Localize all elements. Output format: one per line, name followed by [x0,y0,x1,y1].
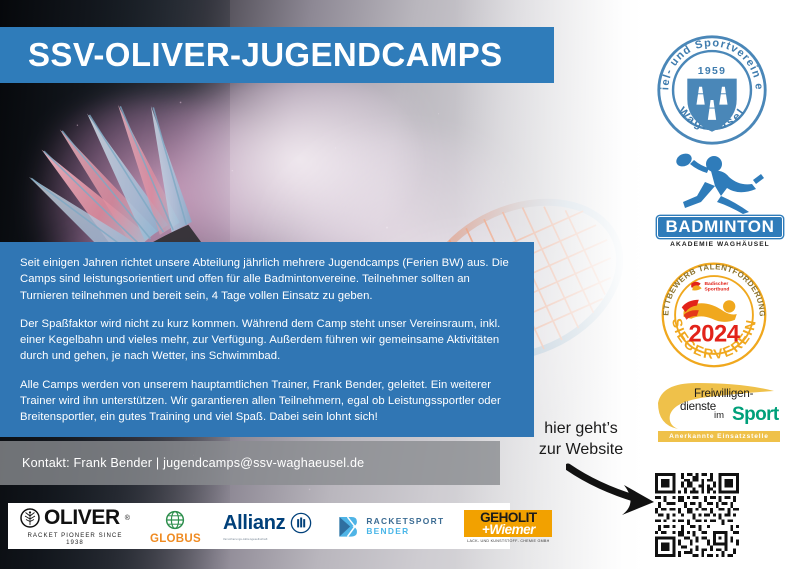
globus-globe-icon [163,508,187,532]
geholit-tagline: LACK- UND KUNSTSTOFF- CHEMIE GMBH [467,539,549,543]
seal-org-line1: Badischer [705,281,729,287]
title-banner: SSV-OLIVER-JUGENDCAMPS [0,27,554,83]
contact-bar: Kontakt: Frank Bender | jugendcamps@ssv-… [0,441,500,485]
badge-siegerverein-2024[interactable]: VEREINSWETTBEWERB TALENTFÖRDERUNG IM SPO… [655,258,773,370]
oliver-wordmark: OLIVER [44,506,120,530]
badge-freiwilligendienste-im-sport[interactable]: Freiwilligen- dienste im Sport Anerkannt… [652,381,782,447]
badminton-subtitle: AKADEMIE WAGHÄUSEL [657,241,783,248]
paragraph-2: Der Spaßfaktor wird nicht zu kurz kommen… [20,316,512,365]
allianz-tagline: Versicherungs-Aktiengesellschaft [223,538,268,541]
seal-year: 2024 [689,322,741,348]
oliver-tree-icon [20,508,40,528]
sponsor-allianz[interactable]: Allianz Versicherungs-Aktiengesellschaft [223,503,312,549]
fwd-line4: Sport [732,404,779,426]
description-panel: Seit einigen Jahren richtet unsere Abtei… [0,242,534,437]
oliver-tagline: RACKET PIONEER SINCE 1938 [20,532,130,546]
bender-line2: BENDER [366,526,444,537]
badge-badminton-akademie[interactable]: BADMINTON AKADEMIE WAGHÄUSEL [657,152,783,248]
fwd-line1: Freiwilligen- [694,387,753,400]
fwd-line3: im [714,410,724,421]
paragraph-1: Seit einigen Jahren richtet unsere Abtei… [20,255,512,304]
fwd-line2: dienste [680,400,716,413]
website-cta-text: hier geht’s zur Website [516,418,646,460]
bender-line1: RACKETSPORT [366,516,444,527]
sponsor-bar: OLIVER ® RACKET PIONEER SINCE 1938 GLOBU… [8,503,510,549]
seal-org-line2: Sportbund [705,286,730,292]
sponsor-geholit-wiemer[interactable]: GEHOLIT +Wiemer LACK- UND KUNSTSTOFF- CH… [464,503,552,549]
bender-monogram-icon [334,513,361,540]
oliver-registered-icon: ® [125,515,130,522]
allianz-bars-icon [290,512,312,534]
badge-ssv-waghaeusel[interactable]: Spiel- und Sportverein e.V. Waghäusel 19… [655,33,769,147]
badminton-player-icon [657,152,783,214]
badminton-wordmark: BADMINTON [657,216,783,238]
allianz-wordmark: Allianz [223,512,285,535]
paragraph-3: Alle Camps werden von unserem hauptamtli… [20,377,512,426]
page-title: SSV-OLIVER-JUGENDCAMPS [0,36,503,74]
contact-text[interactable]: Kontakt: Frank Bender | jugendcamps@ssv-… [0,456,364,470]
sponsor-globus[interactable]: GLOBUS [150,503,201,549]
sponsor-oliver[interactable]: OLIVER ® RACKET PIONEER SINCE 1938 [8,503,130,549]
ssv-year: 1959 [698,66,727,77]
globus-wordmark: GLOBUS [150,533,201,545]
website-qr-code[interactable] [655,473,739,557]
fwd-bar-text: Anerkannte Einsatzstelle [658,431,780,442]
sponsor-racketsport-bender[interactable]: RACKETSPORT BENDER [334,503,444,549]
geholit-line2: +Wiemer [469,524,547,536]
poster-root: SSV-OLIVER-JUGENDCAMPS Seit einigen Jahr… [0,0,799,569]
cta-line-1: hier geht’s [516,418,646,439]
